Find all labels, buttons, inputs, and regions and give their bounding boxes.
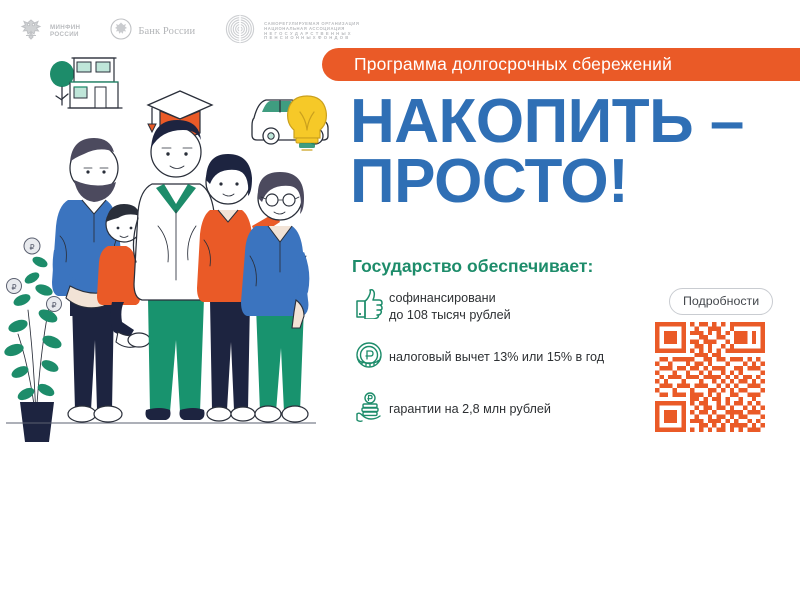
minfin-russia-logo: Минфин России <box>18 16 80 47</box>
family-illustration: .ln { fill:none; stroke:#2a2f3a; stroke-… <box>0 50 345 450</box>
page-title: НАКОПИТЬ – ПРОСТО! <box>350 92 790 212</box>
qr-code[interactable] <box>655 322 765 432</box>
thumbs-up-icon <box>355 287 389 323</box>
double-headed-eagle-emblem-icon <box>110 18 132 45</box>
bank-of-russia-logo: Банк России <box>110 18 195 45</box>
hand-with-coins-icon <box>355 392 389 428</box>
double-headed-eagle-icon <box>18 16 44 47</box>
benefits-heading: Государство обеспечивает: <box>352 256 593 277</box>
benefit-text-cofinancing: софинансировани до 108 тысяч рублей <box>389 287 511 323</box>
benefit-text-tax-deduction: налоговый вычет 13% или 15% в год <box>389 340 604 366</box>
concentric-spiral-icon <box>225 14 255 49</box>
logo-bar: Минфин России Банк России <box>18 14 359 49</box>
house-with-tree-icon <box>50 58 122 108</box>
benefit-item-guarantee: гарантии на 2,8 млн рублей <box>355 392 655 428</box>
figure-woman-glasses <box>241 172 309 422</box>
poster-canvas: Минфин России Банк России <box>0 0 800 600</box>
svg-text:₽: ₽ <box>29 243 34 252</box>
ruble-coin-icon <box>355 340 389 376</box>
svg-text:₽: ₽ <box>51 301 56 310</box>
minfin-logo-text: Минфин России <box>50 25 80 39</box>
headline-line-1: НАКОПИТЬ – <box>350 87 744 156</box>
benefit-item-cofinancing: софинансировани до 108 тысяч рублей <box>355 287 655 323</box>
napf-logo: Саморегулируемая организация Национальна… <box>225 14 359 49</box>
bank-of-russia-logo-text: Банк России <box>138 26 195 38</box>
benefits-list: софинансировани до 108 тысяч рублей нало… <box>355 287 655 445</box>
benefit-line-2: до 108 тысяч рублей <box>389 307 511 324</box>
program-banner-label: Программа долгосрочных сбережений <box>354 54 672 75</box>
benefit-line-1: софинансировани <box>389 291 496 305</box>
headline-line-2: ПРОСТО! <box>350 152 790 212</box>
program-banner: Программа долгосрочных сбережений <box>322 48 800 81</box>
benefit-item-tax-deduction: налоговый вычет 13% или 15% в год <box>355 340 655 376</box>
napf-logo-text: Саморегулируемая организация Национальна… <box>264 22 359 41</box>
details-button[interactable]: Подробности <box>669 288 773 315</box>
svg-text:₽: ₽ <box>11 283 16 292</box>
benefit-text-guarantee: гарантии на 2,8 млн рублей <box>389 392 551 418</box>
